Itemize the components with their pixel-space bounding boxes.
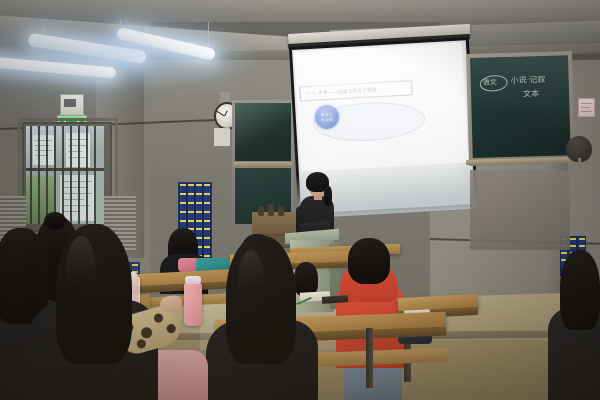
- teacher-ponytail: [324, 186, 332, 206]
- chalk-text-1: 语文: [483, 77, 497, 87]
- student-head: [56, 224, 132, 364]
- desk-object: [258, 206, 264, 216]
- slide-badge-line-2: 的记叙: [321, 117, 334, 123]
- blackboard-left-sheen: [235, 103, 291, 161]
- student-head: [226, 236, 296, 364]
- hair-bun: [44, 212, 66, 230]
- right-wall-panel: [470, 170, 570, 250]
- water-bottle-pink: [184, 282, 202, 326]
- chalk-tray-left: [234, 162, 292, 167]
- wall-note: [214, 128, 230, 146]
- window-security-bars: [26, 126, 104, 224]
- chalk-text-3: 文本: [523, 88, 539, 99]
- electrical-box-face: [64, 99, 76, 107]
- chalk-text-2: 小说·记叙: [510, 74, 545, 86]
- bottle-cap: [185, 276, 201, 284]
- hair-highlight: [66, 236, 96, 306]
- pink-notice: [578, 98, 595, 117]
- student-head: [294, 262, 318, 296]
- desk-object: [278, 206, 284, 216]
- desk-object: [268, 204, 274, 216]
- student-head: [348, 238, 390, 284]
- wall-fan-stem: [578, 158, 581, 174]
- student-head: [560, 250, 600, 330]
- classroom-photo: （一）中考——记叙文的五个特点 有意义 的记叙 语文 小说·记叙 文本: [0, 0, 600, 400]
- chalk-writing: 语文 小说·记叙 文本: [470, 55, 571, 158]
- projection-screen-glare: [300, 50, 453, 118]
- ceiling-beam-main: [0, 0, 600, 22]
- hair-highlight: [238, 250, 264, 310]
- desk-leg: [366, 328, 373, 388]
